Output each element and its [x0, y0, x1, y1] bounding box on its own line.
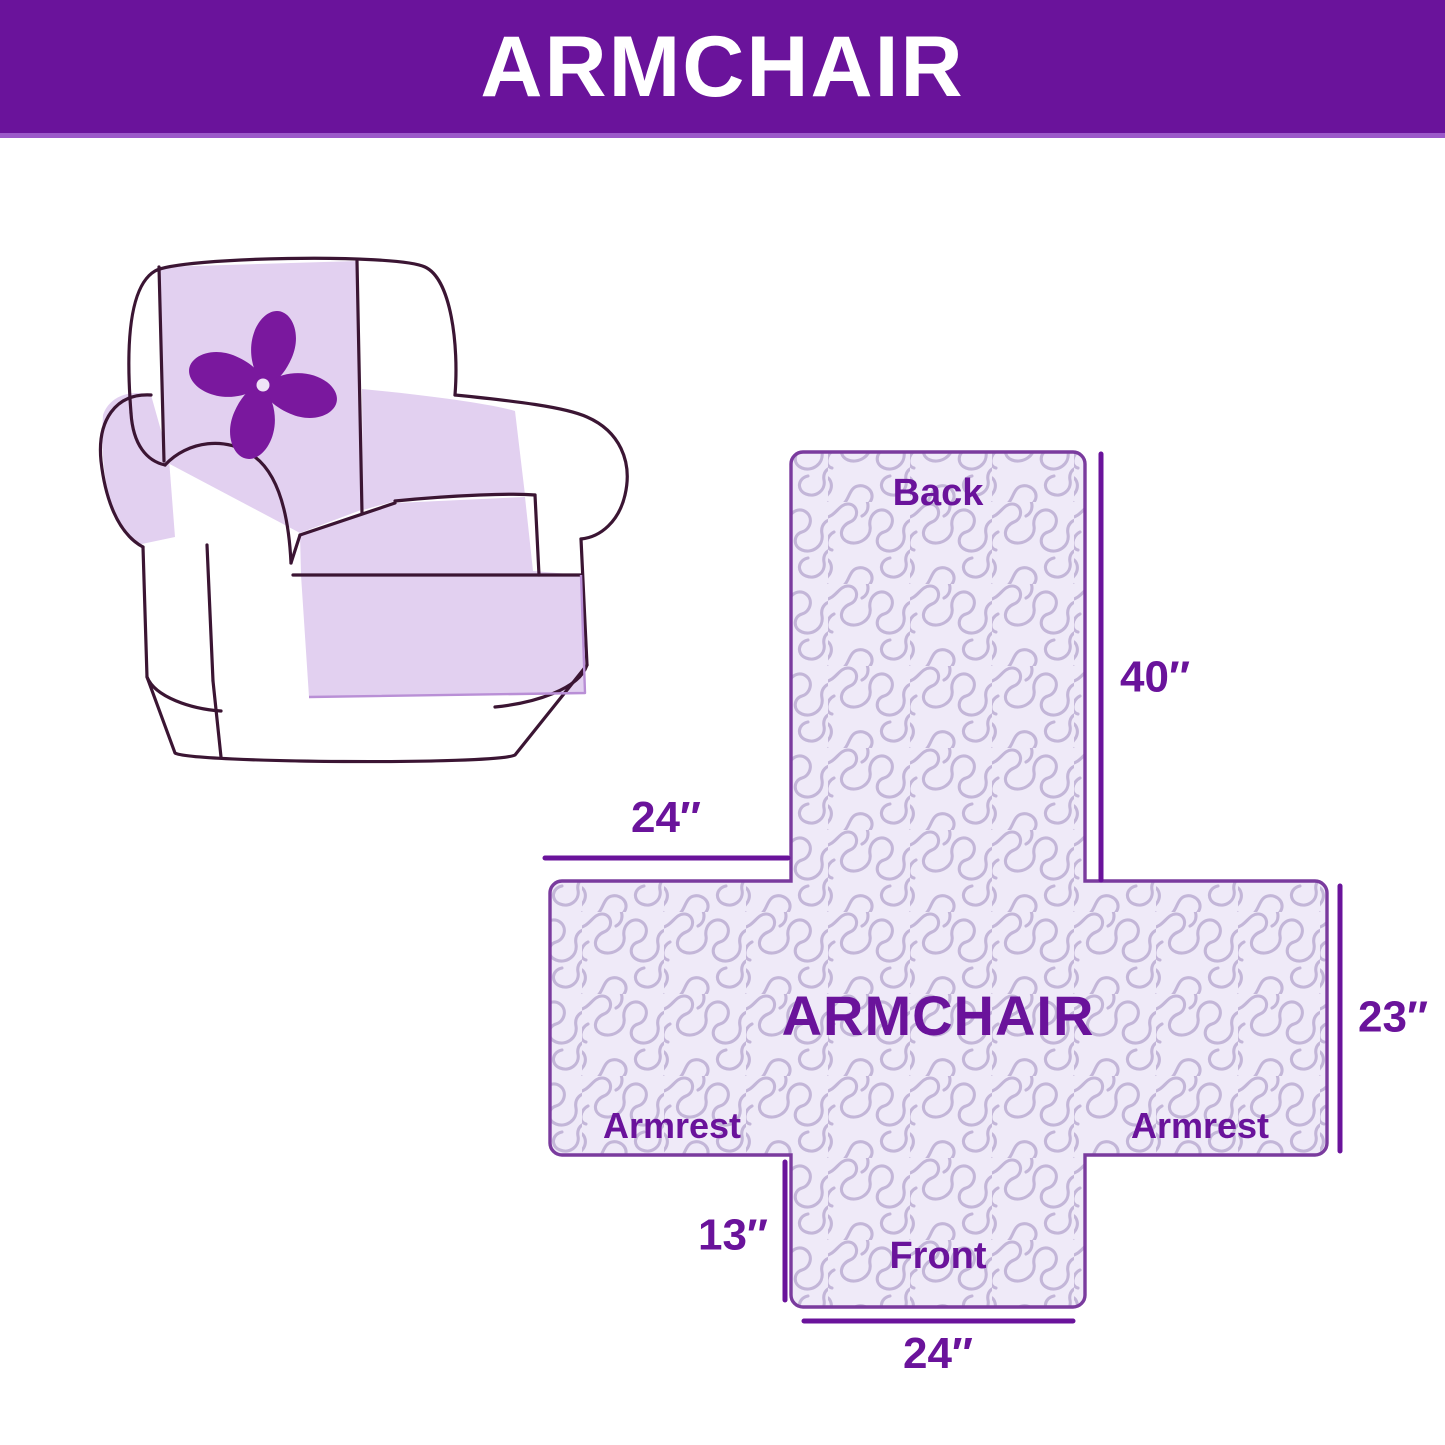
panel-label-back: Back [893, 472, 985, 514]
dimension-front-height-label: 13″ [698, 1211, 768, 1260]
illustration-seat-front-edge [291, 535, 300, 563]
dimension-back-height-label: 40″ [1120, 653, 1190, 702]
dimension-seat-depth-label: 23″ [1358, 993, 1428, 1042]
dimension-front-width: 24″ [804, 1321, 1073, 1378]
illustration-left-arm-front-inner [207, 545, 213, 681]
dimension-front-width-label: 24″ [903, 1329, 973, 1378]
panel-label-armrest-right: Armrest [1131, 1105, 1269, 1146]
panel-label-armrest-left: Armrest [603, 1105, 741, 1146]
header-banner: ARMCHAIR [0, 0, 1445, 133]
cover-layout-diagram: Back ARMCHAIR Armrest Armrest Front 40″ … [500, 420, 1445, 1420]
dimension-front-height: 13″ [698, 1162, 785, 1300]
panel-label-center: ARMCHAIR [782, 984, 1095, 1047]
dimension-back-height: 40″ [1101, 454, 1190, 880]
illustration-base-corner [213, 681, 221, 757]
page-title: ARMCHAIR [480, 24, 964, 110]
dimension-back-width-label: 24″ [631, 793, 701, 842]
panel-label-front: Front [889, 1235, 986, 1277]
dimension-seat-depth: 23″ [1340, 886, 1428, 1151]
header-underline-divider [0, 133, 1445, 138]
dimension-back-width: 24″ [545, 793, 788, 858]
